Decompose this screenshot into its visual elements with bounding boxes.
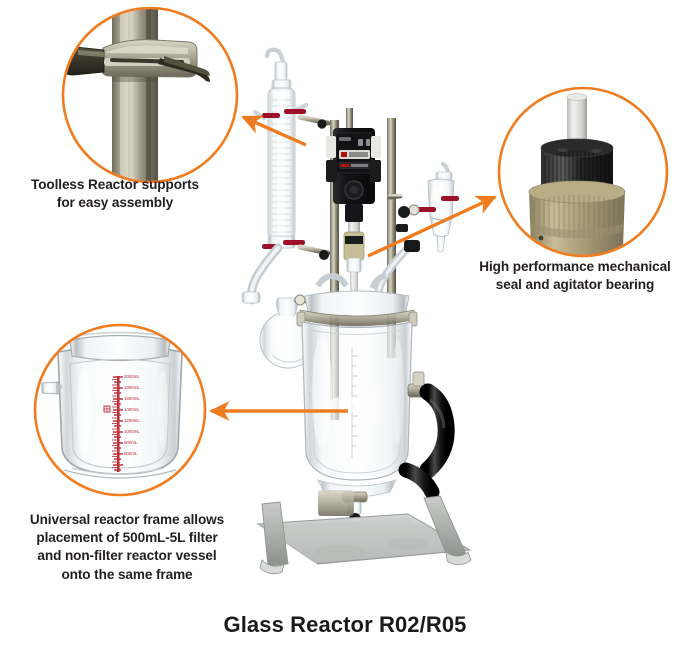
graduation-label: 800mL bbox=[124, 440, 137, 445]
caption-line: and non-filter reactor vessel bbox=[4, 547, 250, 565]
caption-line: seal and agitator bearing bbox=[462, 276, 688, 294]
graduation-label: 1600mL bbox=[124, 396, 140, 401]
caption-line: Toolless Reactor supports bbox=[8, 176, 222, 194]
caption-line: High performance mechanical bbox=[462, 258, 688, 276]
caption-line: placement of 500mL-5L filter bbox=[4, 529, 250, 547]
graduation-label: 2000mL bbox=[124, 374, 140, 379]
caption-line: Universal reactor frame allows bbox=[4, 511, 250, 529]
product-title: Glass Reactor R02/R05 bbox=[0, 612, 690, 638]
graduation-label: 1200mL bbox=[124, 418, 140, 423]
graduation-label: 1800mL bbox=[124, 385, 140, 390]
caption-line: onto the same frame bbox=[4, 566, 250, 584]
caption-line: for easy assembly bbox=[8, 194, 222, 212]
callout-caption-universal-frame: Universal reactor frame allows placement… bbox=[4, 511, 250, 584]
graduation-label: 1000mL bbox=[124, 429, 140, 434]
graduation-label: 600mL bbox=[124, 451, 137, 456]
callout-caption-toolless-support: Toolless Reactor supports for easy assem… bbox=[8, 176, 222, 212]
graduation-label: 1400mL bbox=[124, 407, 140, 412]
product-diagram-canvas: 2000mL 1800mL 1600mL 1400mL 1200mL 1000m… bbox=[0, 0, 690, 665]
callout-caption-mechanical-seal: High performance mechanical seal and agi… bbox=[462, 258, 688, 294]
